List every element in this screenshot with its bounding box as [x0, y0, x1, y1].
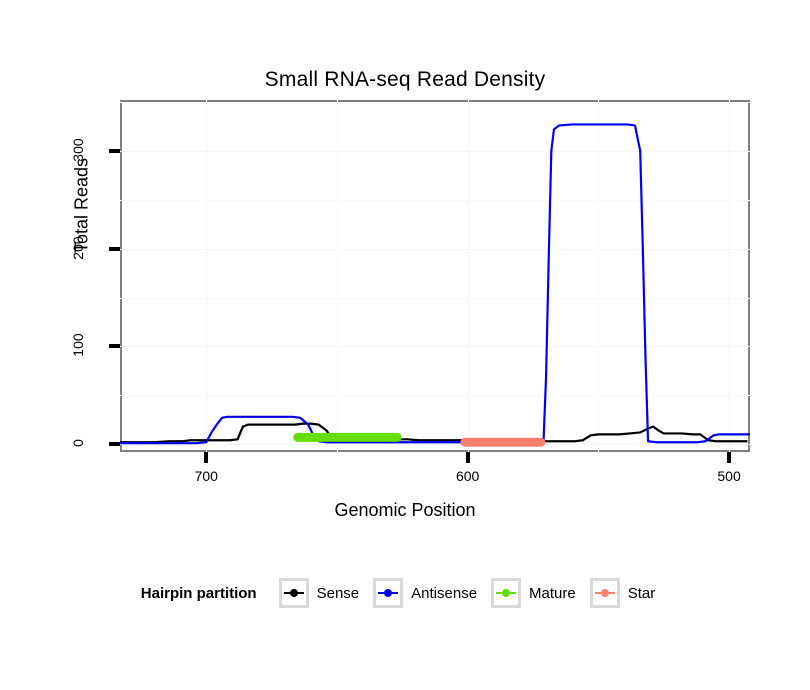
legend-key-dot-icon — [502, 589, 510, 597]
plot-panel: 0100200300 700600500 — [120, 100, 750, 452]
y-tick-mark — [109, 344, 120, 348]
legend-key-swatch — [491, 578, 521, 608]
legend-entry-antisense[interactable]: Antisense — [373, 578, 477, 608]
legend-key-dot-icon — [601, 589, 609, 597]
legend-entry-label: Sense — [317, 585, 360, 602]
x-tick-label: 600 — [438, 468, 498, 484]
x-tick-label: 500 — [699, 468, 759, 484]
x-axis-title: Genomic Position — [0, 500, 810, 521]
legend-entry-mature[interactable]: Mature — [491, 578, 576, 608]
y-tick-mark — [109, 149, 120, 153]
legend-entry-sense[interactable]: Sense — [279, 578, 360, 608]
y-tick-label: 100 — [70, 325, 86, 365]
x-tick-label: 700 — [176, 468, 236, 484]
legend-entry-label: Antisense — [411, 585, 477, 602]
legend-entry-label: Mature — [529, 585, 576, 602]
y-axis-title: Total Reads — [72, 116, 93, 296]
legend-key-swatch — [373, 578, 403, 608]
legend-entry-label: Star — [628, 585, 656, 602]
y-tick-label: 0 — [70, 423, 86, 463]
legend-key-dot-icon — [384, 589, 392, 597]
series-layer — [120, 100, 750, 452]
legend-key-swatch — [590, 578, 620, 608]
series-line-antisense — [120, 124, 750, 443]
plot-area — [120, 100, 750, 452]
legend-entry-star[interactable]: Star — [590, 578, 656, 608]
x-tick-mark — [466, 452, 470, 463]
legend-key-dot-icon — [290, 589, 298, 597]
chart-title: Small RNA-seq Read Density — [0, 68, 810, 92]
x-tick-mark — [204, 452, 208, 463]
legend-title: Hairpin partition — [141, 585, 257, 602]
legend-key-swatch — [279, 578, 309, 608]
chart-root: Small RNA-seq Read Density 0100200300 70… — [0, 0, 810, 690]
x-tick-mark — [727, 452, 731, 463]
series-line-sense — [120, 424, 747, 443]
y-tick-mark — [109, 442, 120, 446]
y-tick-mark — [109, 247, 120, 251]
legend: Hairpin partition SenseAntisenseMatureSt… — [0, 578, 810, 608]
